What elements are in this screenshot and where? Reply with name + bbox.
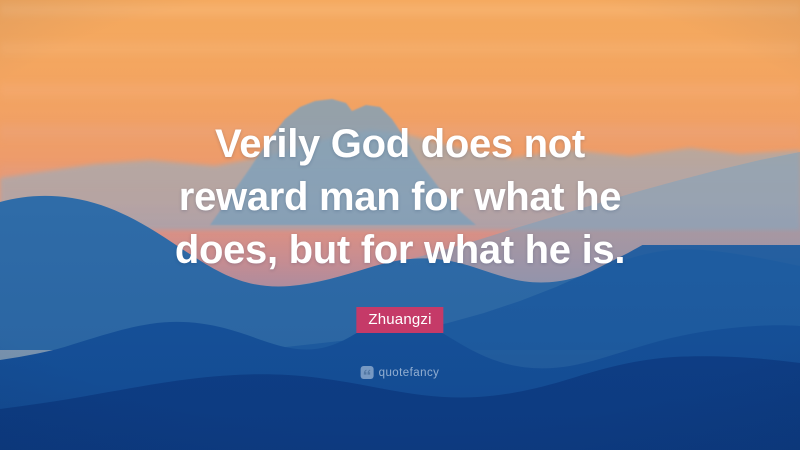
quote-line-3: does, but for what he is. [0,224,800,277]
author-badge[interactable]: Zhuangzi [356,307,443,333]
quote-line-2: reward man for what he [0,171,800,224]
quotefancy-watermark[interactable]: quotefancy [361,366,440,379]
quote-text: Verily God does not reward man for what … [0,118,800,277]
quote-line-1: Verily God does not [0,118,800,171]
quotefancy-watermark-label: quotefancy [379,367,440,379]
quote-poster: Verily God does not reward man for what … [0,0,800,450]
quote-mark-logo-icon [361,366,374,379]
